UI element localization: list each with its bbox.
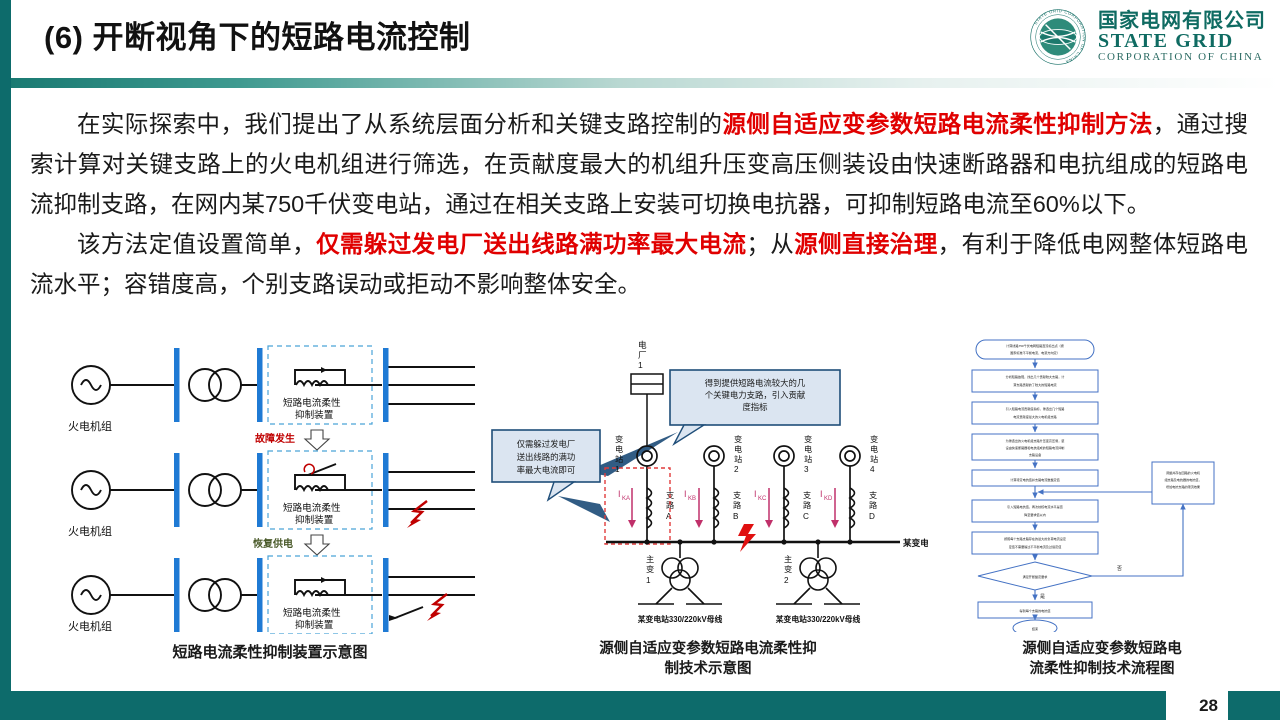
- figure-2-caption-line1: 源侧自适应变参数短路电流柔性抑: [558, 639, 858, 659]
- current-D-symbol: I: [820, 489, 823, 499]
- flow-node-6-text-l2: 定值不需要躲过不平衡电流及过载定值: [1009, 544, 1062, 549]
- substation-2-index: 2: [734, 465, 739, 474]
- flow-branch-no-label: 否: [1117, 566, 1122, 572]
- busbar-3a: [174, 558, 180, 632]
- p1-highlight-1: 源侧自适应变参数短路电流柔性抑制方法: [722, 111, 1152, 137]
- paragraph-1: 在实际探索中，我们提出了从系统层面分析和关键支路控制的源侧自适应变参数短路电流柔…: [30, 104, 1248, 224]
- device-label-2-line2: 抑制装置: [295, 514, 334, 526]
- logo-english-sub: CORPORATION OF CHINA: [1098, 52, 1266, 63]
- flow-node-1-text-l1: 分析短路故障，找出几个贡献较大支路，计: [1006, 374, 1065, 379]
- state-grid-logo: STATE GRID CORPORATION OF CHINA 国家电网有限公司…: [1027, 6, 1266, 68]
- slide-root: (6) 开断视角下的短路电流控制 STATE GRID CORPORATION …: [0, 0, 1280, 720]
- busbar-3c: [383, 558, 389, 632]
- branch-B-label-c1: 支: [733, 490, 741, 500]
- bus-330-left-label: 某变电站330/220kV母线: [638, 614, 723, 624]
- substation-2-label-c3: 站: [734, 454, 742, 464]
- p1-segment-a: 在实际探索中，我们提出了从系统层面分析和关键支路控制的: [77, 111, 722, 137]
- figure-2-technique-schematic: 电 厂 1 得到提供短路电流较大的几 个关键电力支路，引入贡献 度指标: [488, 336, 928, 679]
- body-text-block: 在实际探索中，我们提出了从系统层面分析和关键支路控制的源侧自适应变参数短路电流柔…: [30, 104, 1248, 304]
- logo-english-name: STATE GRID: [1098, 31, 1266, 51]
- transition-label-2: 恢复供电: [253, 537, 293, 550]
- callout-top-line2: 个关键电力支路，引入贡献: [705, 390, 806, 400]
- substation-4-label-c3: 站: [870, 454, 878, 464]
- transition-arrow-1: [305, 430, 329, 450]
- substation-4-label-c2: 电: [870, 444, 878, 454]
- substation-4-index: 4: [870, 465, 875, 474]
- busbar-2a: [174, 453, 180, 527]
- flow-node-2: [972, 402, 1098, 424]
- branch-D-label-c2: 路: [869, 500, 877, 510]
- branch-C-label-c2: 路: [803, 500, 811, 510]
- current-A-symbol: I: [618, 489, 621, 499]
- flow-side-note-l3: 增加电抗支路的限流效果: [1166, 484, 1200, 489]
- flow-node-7-text: 满足开断整定要求: [1023, 574, 1048, 579]
- figure-3-caption-line1: 源侧自适应变参数短路电: [952, 639, 1252, 659]
- main-tx-2-c2: 变: [784, 564, 792, 574]
- footer-bar: [11, 691, 1280, 720]
- figures-row: 短路电流柔性 抑制装置 火电机组 故障发生: [0, 336, 1280, 682]
- figure-1-device-schematic: 短路电流柔性 抑制装置 火电机组 故障发生: [55, 342, 485, 663]
- breaker-open-arc: [304, 464, 314, 474]
- flow-node-3-text-l3: 支路设备: [1029, 452, 1041, 457]
- flow-node-0: [976, 340, 1094, 359]
- main-tx-2-index: 2: [784, 576, 789, 585]
- p2-highlight-2: 源侧直接治理: [794, 231, 937, 257]
- transition-arrow-2: [305, 535, 329, 555]
- branch-B-label-c2: 路: [733, 500, 741, 510]
- figure-3-process-flowchart: 计算线路750千伏电网短路直流标出点（按 国家标准不平衡电流、电源方向定） 分析…: [952, 336, 1252, 679]
- busbar-3b: [257, 558, 263, 632]
- callout-top-line1: 得到提供短路电流较大的几: [705, 378, 806, 388]
- flow-node-0-text-l1: 计算线路750千伏电网短路直流标出点（按: [1006, 343, 1064, 348]
- callout-left-line2: 送出线路的满功: [517, 452, 576, 462]
- main-tx-1-index: 1: [646, 576, 651, 585]
- flow-node-6: [972, 532, 1098, 554]
- flow-node-2-text-l1: 引入短路电流贡献度指标，筛选出几个短路: [1006, 406, 1065, 411]
- current-B-subscript: KB: [688, 496, 696, 502]
- substation-3-label-c3: 站: [804, 454, 812, 464]
- footer-page-notch: [1166, 691, 1228, 720]
- transition-label-1: 故障发生: [255, 432, 295, 445]
- header-divider: [11, 78, 1280, 88]
- paragraph-2: 该方法定值设置简单，仅需躲过发电厂送出线路满功率最大电流；从源侧直接治理，有利于…: [30, 224, 1248, 304]
- substation-3-index: 3: [804, 465, 809, 474]
- flow-node-5-text-l1: 引入短路电抗值，再次校核电流水平是否: [1007, 504, 1063, 509]
- page-title: (6) 开断视角下的短路电流控制: [44, 12, 471, 57]
- fault-bolt-symbol: [738, 524, 756, 552]
- flow-branch-yes-label: 是: [1040, 594, 1045, 600]
- flow-side-note-l1: 调整并存在回路的火电机: [1166, 470, 1201, 475]
- flow-node-3-text-l2: 设由快速断路器和电抗组成的短路电流抑制: [1006, 445, 1065, 450]
- plant-label-char-2: 厂: [638, 350, 647, 360]
- branch-C-label-c1: 支: [803, 490, 811, 500]
- figure-1-caption: 短路电流柔性抑制装置示意图: [55, 643, 485, 663]
- figure-3-caption-line2: 流柔性抑制技术流程图: [952, 659, 1252, 679]
- plant-label-char-3: 1: [638, 360, 643, 370]
- branch-A-highlight-box: [605, 468, 670, 544]
- main-tx-2-c1: 主: [784, 554, 792, 564]
- flow-node-4-text: 计算待定电抗值并支路电流数整定值: [1010, 477, 1060, 482]
- substation-1-label-c3: 站: [615, 454, 623, 464]
- state-grid-globe-icon: STATE GRID CORPORATION OF CHINA: [1027, 6, 1089, 68]
- callout-top-line3: 度指标: [742, 402, 768, 412]
- current-D-subscript: KD: [824, 496, 833, 502]
- generator-label-2: 火电机组: [68, 524, 112, 538]
- page-number: 28: [1199, 696, 1218, 716]
- branch-B-id: B: [733, 512, 739, 521]
- bus-750kv-label: 某变电站750kV母线: [903, 537, 928, 548]
- device-label-3-line1: 短路电流柔性: [283, 607, 341, 619]
- figure-1-svg: 短路电流柔性 抑制装置 火电机组 故障发生: [55, 342, 485, 634]
- generator-label-1: 火电机组: [68, 419, 112, 433]
- branch-A-id: A: [666, 512, 672, 521]
- plant-symbol: [631, 374, 663, 446]
- plant-label-char-1: 电: [638, 339, 647, 350]
- busbar-1b: [257, 348, 263, 422]
- logo-chinese-name: 国家电网有限公司: [1098, 11, 1266, 31]
- callout-left-line3: 率最大电流即可: [517, 465, 576, 475]
- flow-node-5-text-l2: 降至要求值以内: [1024, 512, 1046, 517]
- device-label-2-line1: 短路电流柔性: [283, 502, 341, 514]
- p2-segment-b: ；从: [746, 231, 794, 257]
- flow-node-5: [972, 500, 1098, 522]
- busbar-1c: [383, 348, 389, 422]
- current-A-subscript: KA: [622, 496, 630, 502]
- flow-side-note-box: [1152, 462, 1214, 504]
- figure-2-caption: 源侧自适应变参数短路电流柔性抑 制技术示意图: [558, 639, 858, 679]
- busbar-2b: [257, 453, 263, 527]
- callout-left-line1: 仅需躲过发电厂: [517, 439, 576, 449]
- bus-330-right-label: 某变电站330/220kV母线: [776, 614, 861, 624]
- p2-highlight-1: 仅需躲过发电厂送出线路满功率最大电流: [316, 231, 746, 257]
- current-C-symbol: I: [754, 489, 757, 499]
- figure-3-svg: 计算线路750千伏电网短路直流标出点（按 国家标准不平衡电流、电源方向定） 分析…: [952, 336, 1252, 632]
- flow-node-1: [972, 370, 1098, 392]
- flow-node-9-text: 结束: [1032, 626, 1038, 631]
- substation-1-label-c1: 变: [615, 434, 623, 444]
- main-tx-1-c1: 主: [646, 554, 654, 564]
- flow-node-1-text-l2: 算支路贡献的了较大的短路电流: [1013, 382, 1056, 387]
- callout-left-bubble: 仅需躲过发电厂 送出线路的满功 率最大电流即可: [492, 430, 610, 522]
- busbar-1a: [174, 348, 180, 422]
- current-C-subscript: KC: [758, 496, 767, 502]
- p2-segment-a: 该方法定值设置简单，: [77, 231, 316, 257]
- branch-C-id: C: [803, 512, 809, 521]
- device-label-1-line1: 短路电流柔性: [283, 397, 341, 409]
- flow-node-8-text: 得到每个支路的电抗值: [1020, 608, 1051, 613]
- flow-node-6-text-l1: 按照每个支路支路存在的最大的负荷电流设定: [1004, 536, 1066, 541]
- flow-node-3-text-l1: 为筛选出的火电机组支路升压变高压侧，装: [1006, 438, 1065, 443]
- current-B-symbol: I: [684, 489, 687, 499]
- substation-2-label-c1: 变: [734, 434, 742, 444]
- main-tx-1-c2: 变: [646, 564, 654, 574]
- device-label-1-line2: 抑制装置: [295, 409, 334, 421]
- substation-1-label-c2: 电: [615, 444, 623, 454]
- flow-side-note-l2: 组支路及电抗器的电抗值，: [1164, 477, 1201, 482]
- figure-2-svg: 电 厂 1 得到提供短路电流较大的几 个关键电力支路，引入贡献 度指标: [488, 336, 928, 632]
- busbar-2c: [383, 453, 389, 527]
- substation-3-label-c1: 变: [804, 434, 812, 444]
- figure-3-caption: 源侧自适应变参数短路电 流柔性抑制技术流程图: [952, 639, 1252, 679]
- flow-node-2-text-l2: 电流贡献度最大的火电机组支路: [1013, 414, 1056, 419]
- substation-4-label-c1: 变: [870, 434, 878, 444]
- flow-node-0-text-l2: 国家标准不平衡电流、电源方向定）: [1010, 350, 1060, 355]
- substation-1-index: 1: [615, 465, 620, 474]
- branch-D-id: D: [869, 512, 875, 521]
- branch-D-label-c1: 支: [869, 490, 877, 500]
- substation-2-label-c2: 电: [734, 444, 742, 454]
- substation-3-label-c2: 电: [804, 444, 812, 454]
- figure-2-caption-line2: 制技术示意图: [558, 659, 858, 679]
- generator-label-3: 火电机组: [68, 619, 112, 633]
- device-label-3-line2: 抑制装置: [295, 619, 334, 631]
